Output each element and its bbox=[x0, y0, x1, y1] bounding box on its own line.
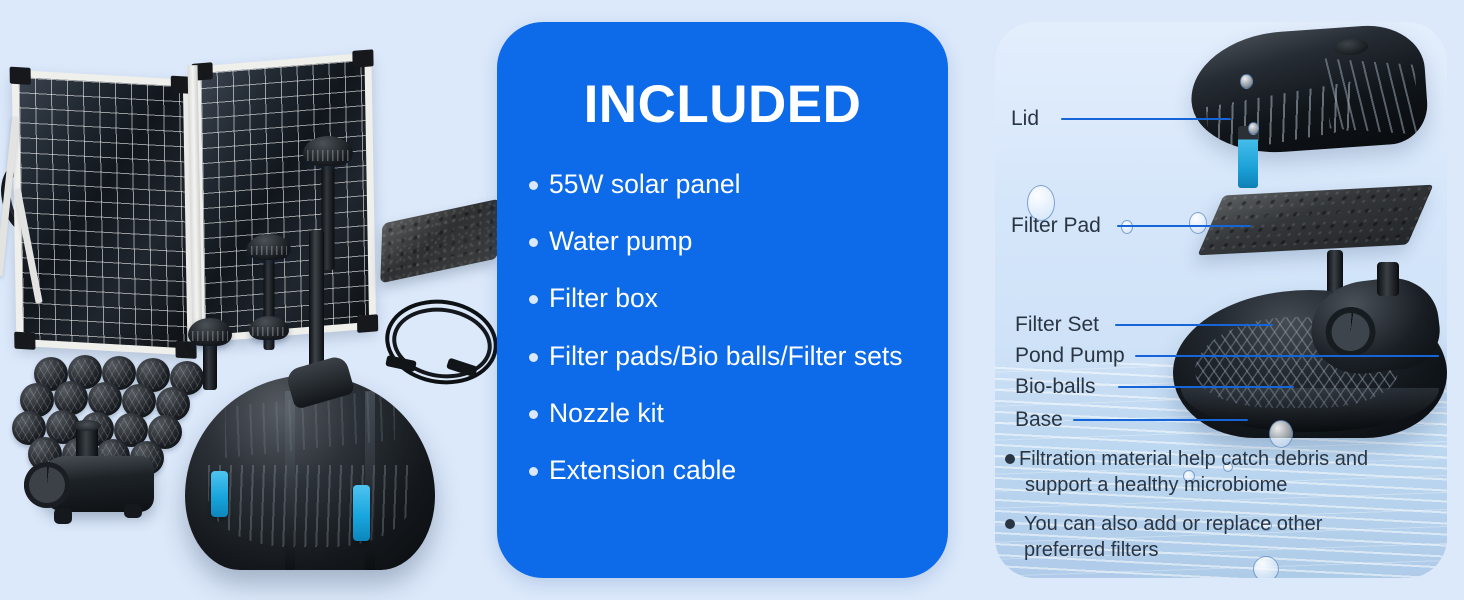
leader-line-lid bbox=[1061, 118, 1231, 120]
note-line: Filtration material help catch debris an… bbox=[1019, 446, 1368, 472]
note-line: preferred filters bbox=[1024, 537, 1322, 563]
leader-line-filter-pad bbox=[1117, 225, 1251, 227]
filter-pad-part-art bbox=[1197, 185, 1433, 256]
bio-ball bbox=[88, 382, 122, 416]
bullet-dot-icon bbox=[529, 467, 538, 476]
bubble-icon bbox=[1189, 212, 1207, 234]
included-item-label: Filter pads/Bio balls/Filter sets bbox=[549, 342, 902, 372]
bullet-dot-icon bbox=[529, 295, 538, 304]
dome-side-vents bbox=[208, 465, 413, 547]
note-bullet-icon bbox=[1005, 519, 1015, 529]
list-item: Extension cable bbox=[529, 456, 930, 486]
leader-line-base bbox=[1073, 419, 1248, 421]
bubble-icon bbox=[1248, 122, 1259, 135]
included-list: 55W solar panel Water pump Filter box Fi… bbox=[529, 170, 930, 513]
leader-line-pond-pump bbox=[1135, 355, 1439, 357]
base-rim bbox=[1181, 388, 1439, 432]
water-pump bbox=[20, 420, 170, 540]
bullet-dot-icon bbox=[529, 410, 538, 419]
bubble-icon bbox=[1121, 220, 1133, 234]
pond-pump-intake-cage bbox=[1323, 304, 1379, 360]
note-bullet-icon bbox=[1005, 454, 1015, 464]
included-item-label: Water pump bbox=[549, 227, 692, 257]
callout-label-filter-set: Filter Set bbox=[1015, 314, 1099, 335]
pump-foot bbox=[124, 504, 142, 518]
bullet-dot-icon bbox=[529, 238, 538, 247]
lid-vent-slots-rear bbox=[1325, 58, 1420, 134]
solar-panel-left-wing bbox=[12, 70, 195, 356]
infographic-stage: INCLUDED 55W solar panel Water pump Filt… bbox=[0, 0, 1464, 600]
leader-line-bio-balls bbox=[1118, 386, 1294, 388]
dome-clip-right bbox=[353, 485, 370, 541]
panel-corner-guard bbox=[14, 332, 35, 350]
lid-handle-recess bbox=[1333, 38, 1368, 56]
notes-list: Filtration material help catch debris an… bbox=[1005, 446, 1431, 564]
callout-label-pond-pump: Pond Pump bbox=[1015, 345, 1125, 366]
included-card: INCLUDED 55W solar panel Water pump Filt… bbox=[497, 22, 948, 578]
dome-rib bbox=[365, 391, 375, 570]
pump-intake-cage bbox=[24, 462, 70, 508]
included-item-label: 55W solar panel bbox=[549, 170, 741, 200]
bullet-dot-icon bbox=[529, 181, 538, 190]
nozzle-medium bbox=[244, 222, 294, 350]
note-line: support a healthy microbiome bbox=[1019, 472, 1368, 498]
list-item: Filter pads/Bio balls/Filter sets bbox=[529, 342, 930, 372]
nozzle-head bbox=[247, 234, 291, 260]
pump-foot bbox=[54, 508, 72, 524]
lid-part-art bbox=[1187, 22, 1430, 158]
list-item: Water pump bbox=[529, 227, 930, 257]
note-text: You can also add or replace other prefer… bbox=[1024, 511, 1322, 564]
panel-corner-guard bbox=[10, 67, 31, 85]
callout-label-filter-pad: Filter Pad bbox=[1011, 215, 1101, 236]
pond-pump-outlet bbox=[1377, 262, 1399, 296]
product-photo-kit bbox=[0, 0, 500, 600]
note-item: You can also add or replace other prefer… bbox=[1005, 511, 1431, 564]
dome-clip-left bbox=[211, 471, 228, 517]
lid-clip-cyan bbox=[1238, 126, 1258, 188]
callout-label-lid: Lid bbox=[1011, 108, 1039, 129]
filter-pad-foam bbox=[380, 199, 499, 284]
callout-label-bio-balls: Bio-balls bbox=[1015, 376, 1096, 397]
list-item: Filter box bbox=[529, 284, 930, 314]
note-line: You can also add or replace other bbox=[1024, 511, 1322, 537]
page-title: INCLUDED bbox=[497, 78, 948, 131]
bullet-dot-icon bbox=[529, 353, 538, 362]
panel-corner-guard bbox=[352, 49, 373, 68]
leader-line-filter-set bbox=[1115, 324, 1273, 326]
note-item: Filtration material help catch debris an… bbox=[1005, 446, 1431, 499]
nozzle-head bbox=[188, 318, 232, 346]
nozzle-head-lower bbox=[249, 316, 289, 340]
list-item: Nozzle kit bbox=[529, 399, 930, 429]
nozzle-head bbox=[303, 136, 353, 166]
list-item: 55W solar panel bbox=[529, 170, 930, 200]
dome-rib bbox=[285, 391, 295, 570]
bubble-icon bbox=[1240, 74, 1253, 89]
included-item-label: Extension cable bbox=[549, 456, 736, 486]
bubble-icon bbox=[1269, 420, 1293, 448]
solar-cells-left bbox=[19, 77, 188, 348]
exploded-diagram-panel: Lid Filter Pad Filter Set Pond Pump Bio-… bbox=[995, 22, 1447, 578]
included-item-label: Filter box bbox=[549, 284, 658, 314]
included-item-label: Nozzle kit bbox=[549, 399, 664, 429]
panel-corner-guard bbox=[357, 314, 378, 333]
note-text: Filtration material help catch debris an… bbox=[1019, 446, 1368, 499]
callout-label-base: Base bbox=[1015, 409, 1063, 430]
